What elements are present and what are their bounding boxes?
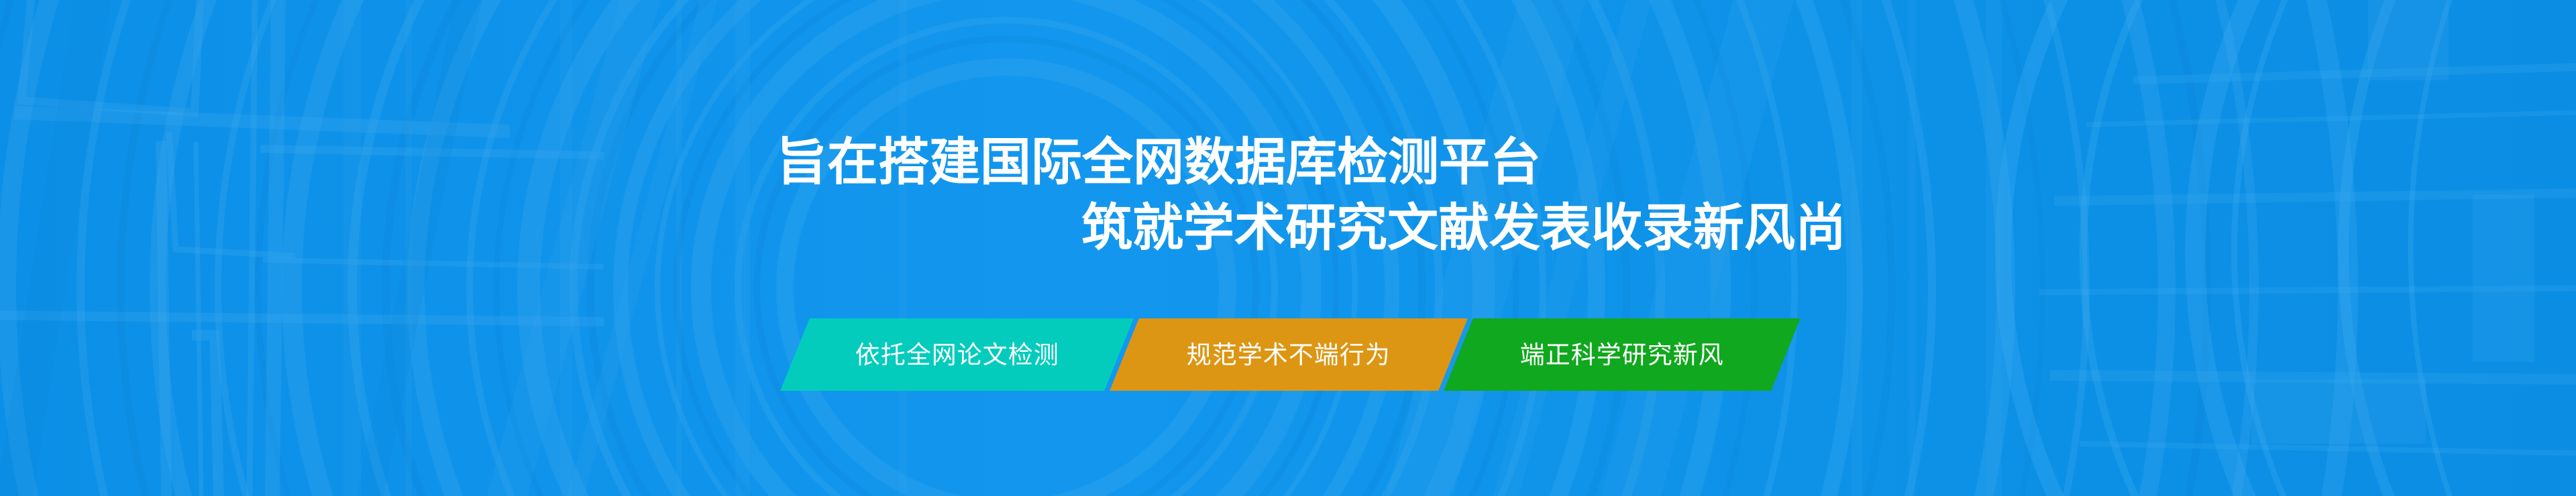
feature-tab-plagiarism-detection[interactable]: 依托全网论文检测 [780,318,1134,391]
feature-tab-research-integrity[interactable]: 端正科学研究新风 [1444,318,1801,391]
background-decoration [0,0,2576,496]
feature-tab-label: 依托全网论文检测 [855,343,1059,367]
feature-tab-label: 规范学术不端行为 [1187,343,1391,367]
hero-banner: 旨在搭建国际全网数据库检测平台 筑就学术研究文献发表收录新风尚 依托全网论文检测… [0,0,2576,496]
feature-tab-strip: 依托全网论文检测 规范学术不端行为 端正科学研究新风 [0,318,2576,392]
feature-tab-label: 端正科学研究新风 [1520,343,1724,367]
feature-tab-misconduct-regulation[interactable]: 规范学术不端行为 [1110,318,1468,391]
